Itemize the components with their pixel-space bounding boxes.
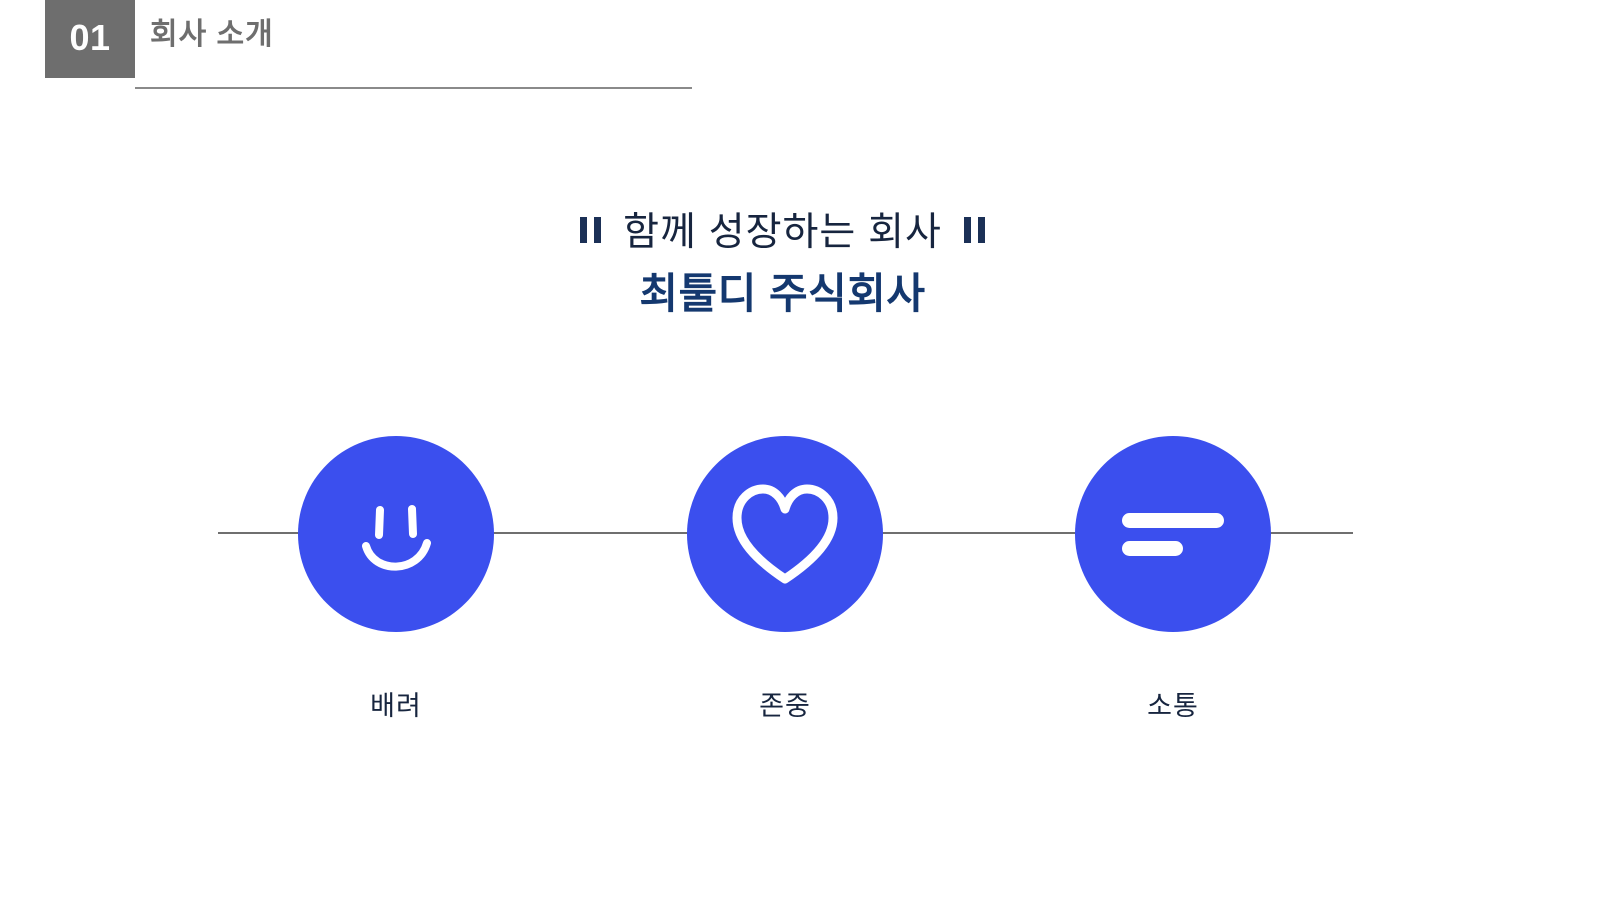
header-divider <box>135 87 692 89</box>
value-label-3: 소통 <box>1015 690 1331 722</box>
two-lines-icon <box>1118 499 1228 569</box>
slide-header: 01 회사 소개 <box>0 0 1599 120</box>
headline-block: 함께 성장하는 회사 최툴디 주식회사 <box>0 206 1565 319</box>
core-values-row: 배려 존중 소통 <box>0 0 1599 899</box>
value-item-3[interactable]: 소통 <box>1075 436 1271 632</box>
value-icon-circle-1 <box>298 436 494 632</box>
company-tagline: 함께 성장하는 회사 <box>623 211 942 256</box>
company-name: 최툴디 주식회사 <box>0 269 1565 319</box>
page-title: 회사 소개 <box>150 17 274 53</box>
value-item-1[interactable]: 배려 <box>298 436 494 632</box>
quote-open-icon <box>580 217 601 243</box>
value-label-2: 존중 <box>627 690 943 722</box>
value-item-2[interactable]: 존중 <box>687 436 883 632</box>
section-number-badge: 01 <box>45 0 135 78</box>
quote-close-icon <box>964 217 985 243</box>
slide-canvas: 01 회사 소개 함께 성장하는 회사 최툴디 주식회사 <box>0 0 1599 899</box>
subtitle-row: 함께 성장하는 회사 <box>0 206 1565 260</box>
heart-outline-icon <box>727 479 843 589</box>
section-number-label: 01 <box>69 20 110 56</box>
value-icon-circle-3 <box>1075 436 1271 632</box>
value-label-1: 배려 <box>238 690 554 722</box>
smiley-face-icon <box>336 474 456 594</box>
value-icon-circle-2 <box>687 436 883 632</box>
